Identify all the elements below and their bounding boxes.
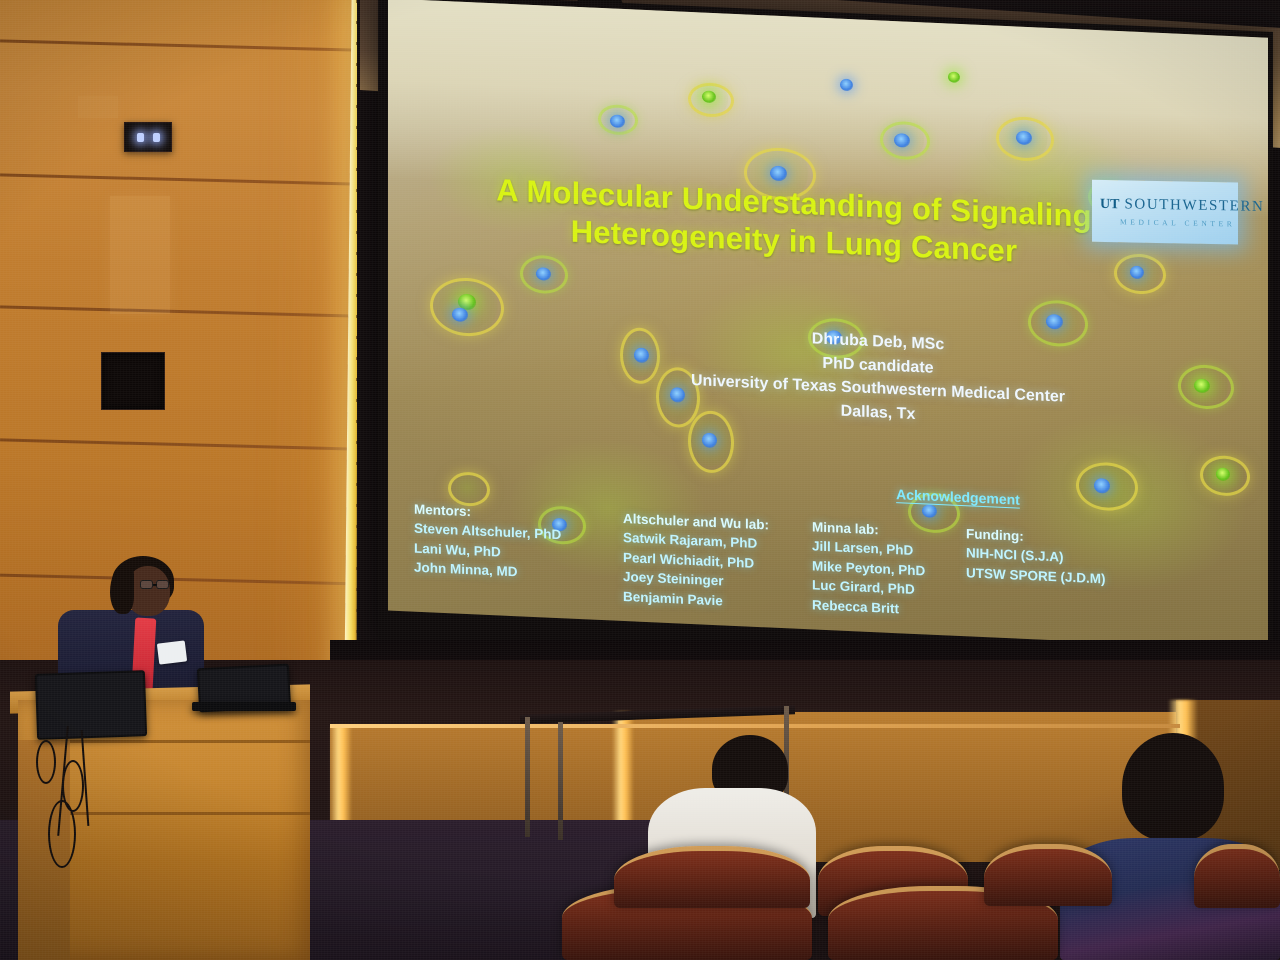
- projection-screen: A Molecular Understanding of Signaling H…: [378, 0, 1273, 680]
- podium-cable-loop: [62, 760, 84, 812]
- ack-column-minna-lab: Minna lab: Jill Larsen, PhD Mike Peyton,…: [812, 517, 962, 621]
- wall-panel-light-patch: [110, 196, 170, 314]
- laptop-base: [192, 702, 296, 711]
- ack-column-funding: Funding: NIH-NCI (S.J.A) UTSW SPORE (J.D…: [966, 524, 1126, 628]
- presenter-glasses-icon-2: [156, 580, 169, 589]
- utsw-logo: UT SOUTHWESTERN MEDICAL CENTER: [1092, 180, 1238, 245]
- utsw-logo-wordmark: SOUTHWESTERN: [1124, 196, 1264, 216]
- wall-reflection: [78, 96, 118, 118]
- slide-presenter-block: Dhruba Deb, MSc PhD candidate University…: [598, 318, 1158, 438]
- ceiling-speaker-icon: [124, 122, 172, 152]
- auditorium-seat: [1194, 844, 1280, 908]
- utsw-logo-mark: UT: [1100, 196, 1119, 212]
- table-leg: [558, 722, 563, 840]
- left-wood-wall: [0, 0, 356, 700]
- ack-column-altschuler-wu-lab: Altschuler and Wu lab: Satwik Rajaram, P…: [623, 509, 808, 614]
- confidence-monitor: [35, 670, 147, 740]
- presenter-glasses-icon: [140, 580, 153, 589]
- auditorium-seat: [984, 844, 1112, 906]
- ack-column-mentors: Mentors: Steven Altschuler, PhD Lani Wu,…: [414, 500, 619, 606]
- wall-top-highlight: [330, 724, 1180, 728]
- presenter-name-badge: [157, 640, 187, 664]
- slide-title: A Molecular Understanding of Signaling H…: [444, 169, 1144, 276]
- wall-vent-icon: [101, 352, 165, 410]
- attendee-head: [1122, 733, 1224, 841]
- auditorium-seat: [614, 846, 810, 908]
- utsw-logo-subtitle: MEDICAL CENTER: [1100, 217, 1238, 229]
- acknowledgement-heading: Acknowledgement: [868, 485, 1048, 509]
- presenter-hair-side: [110, 566, 134, 614]
- glasses-bridge: [153, 584, 157, 586]
- podium-cable-loop: [36, 740, 56, 784]
- table-leg: [525, 717, 530, 837]
- lecture-hall-photo: A Molecular Understanding of Signaling H…: [0, 0, 1280, 960]
- acknowledgement-columns: Mentors: Steven Altschuler, PhD Lani Wu,…: [414, 500, 1264, 635]
